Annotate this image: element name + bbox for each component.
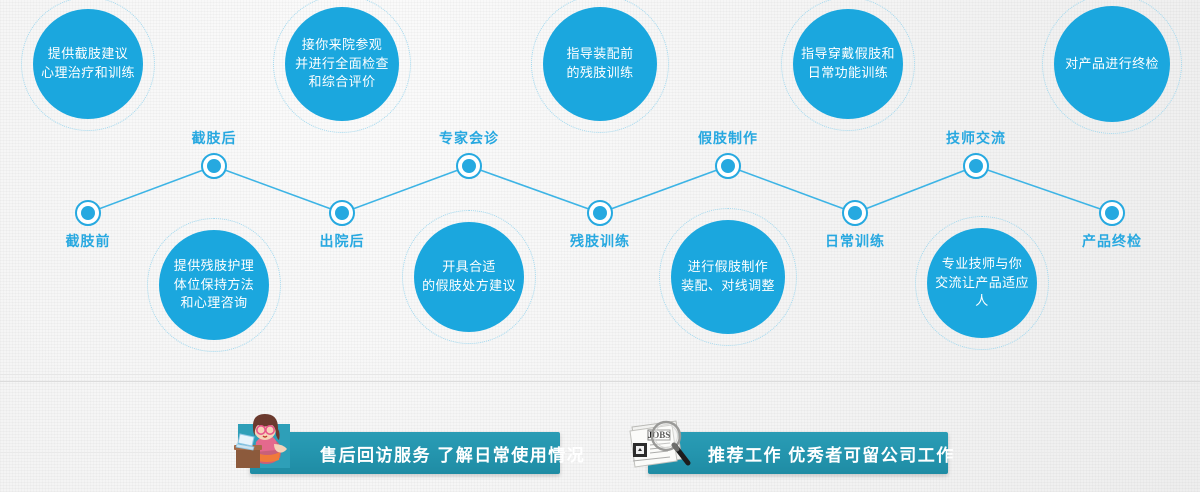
info-bubble[interactable]: 进行假肢制作 装配、对线调整 [671,220,785,334]
timeline-node-专家会诊[interactable] [456,153,482,179]
info-bubble[interactable]: 指导穿戴假肢和 日常功能训练 [793,9,903,119]
timeline-node-label: 截肢前 [66,231,111,251]
timeline-node-截肢前[interactable] [75,200,101,226]
info-bubble-text: 指导装配前 的残肢训练 [566,45,633,83]
info-bubble[interactable]: 开具合适 的假肢处方建议 [414,222,524,332]
timeline-node-日常训练[interactable] [842,200,868,226]
timeline-node-label: 日常训练 [825,231,885,251]
info-bubble-text: 专业技师与你 交流让产品适应人 [931,255,1033,312]
timeline-node-label: 假肢制作 [698,128,758,148]
promo-banner[interactable]: JOBS 推荐工作 优秀者可留公司工作 [648,432,948,474]
info-bubble-text: 提供截肢建议 心理治疗和训练 [41,45,135,83]
info-bubble-text: 进行假肢制作 装配、对线调整 [681,258,775,296]
info-bubble-text: 开具合适 的假肢处方建议 [422,258,516,296]
timeline-node-label: 专家会诊 [439,128,499,148]
info-bubble-text: 对产品进行终检 [1065,55,1159,74]
info-bubble[interactable]: 对产品进行终检 [1054,6,1170,122]
woman-at-desk-icon [232,410,294,473]
promo-banner-text: 售后回访服务 了解日常使用情况 [320,441,585,466]
promo-banner[interactable]: 售后回访服务 了解日常使用情况 [250,432,560,474]
timeline-node-label: 产品终检 [1082,231,1142,251]
svg-text:JOBS: JOBS [648,430,671,440]
timeline-node-截肢后[interactable] [201,153,227,179]
info-bubble[interactable]: 提供残肢护理 体位保持方法 和心理咨询 [159,230,269,340]
info-bubble-text: 接你来院参观 并进行全面检查 和综合评价 [295,36,389,93]
jobs-newspaper-magnifier-icon: JOBS [626,413,692,474]
info-bubble[interactable]: 接你来院参观 并进行全面检查 和综合评价 [285,7,399,121]
timeline-node-产品终检[interactable] [1099,200,1125,226]
info-bubble[interactable]: 提供截肢建议 心理治疗和训练 [33,9,143,119]
timeline-node-label: 出院后 [320,231,365,251]
info-bubble-text: 提供残肢护理 体位保持方法 和心理咨询 [174,257,254,314]
timeline-node-出院后[interactable] [329,200,355,226]
divider-line-top [0,374,1200,375]
info-bubble[interactable]: 指导装配前 的残肢训练 [543,7,657,121]
promo-banner-text: 推荐工作 优秀者可留公司工作 [708,441,955,466]
timeline-node-label: 残肢训练 [570,231,630,251]
timeline-node-假肢制作[interactable] [715,153,741,179]
infographic-root: 提供截肢建议 心理治疗和训练接你来院参观 并进行全面检查 和综合评价指导装配前 … [0,0,1200,492]
timeline-node-技师交流[interactable] [963,153,989,179]
timeline-node-label: 截肢后 [192,128,237,148]
timeline-node-label: 技师交流 [946,128,1006,148]
info-bubble[interactable]: 专业技师与你 交流让产品适应人 [927,228,1037,338]
divider-line-banner-baseline [0,452,1200,453]
info-bubble-text: 指导穿戴假肢和 日常功能训练 [801,45,895,83]
divider-line-vertical-center [600,382,601,452]
timeline-node-残肢训练[interactable] [587,200,613,226]
